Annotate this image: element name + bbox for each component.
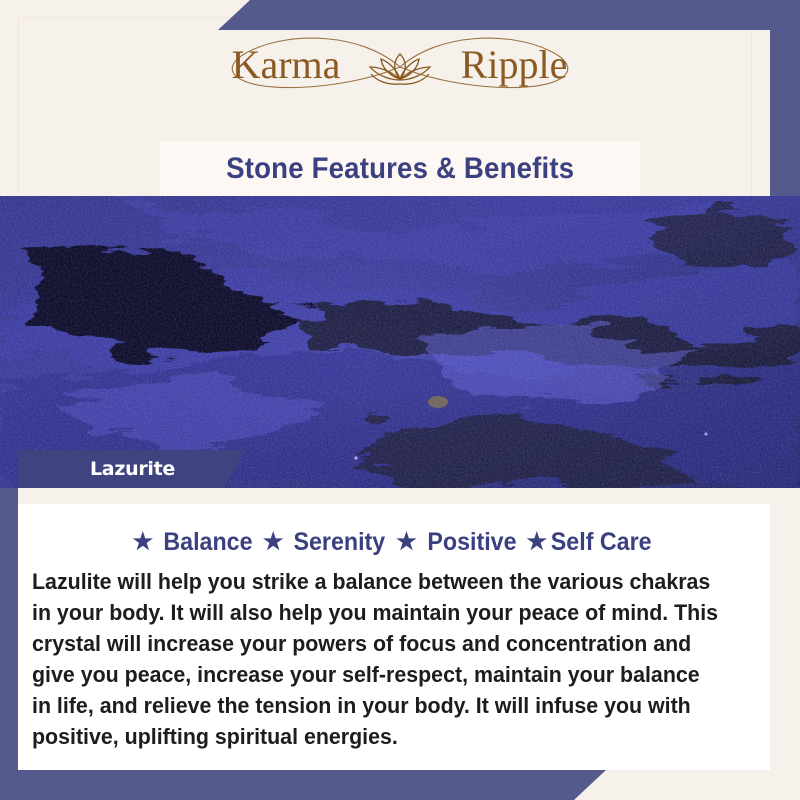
lotus-icon	[370, 54, 430, 84]
logo-word-ripple: Ripple	[461, 42, 568, 87]
benefits-list: ★ Balance ★ Serenity ★ Positive ★Self Ca…	[18, 528, 770, 557]
logo-svg: Karma Ripple	[190, 26, 610, 108]
stone-description: Lazulite will help you strike a balance …	[32, 566, 720, 752]
card-top-strip	[18, 488, 770, 504]
stone-name: Lazurite	[90, 458, 175, 480]
benefit-label-serenity: Serenity	[294, 528, 386, 557]
logo-word-karma: Karma	[232, 42, 341, 87]
star-icon: ★	[132, 528, 153, 555]
title-banner: Stone Features & Benefits	[160, 141, 640, 196]
stone-photo	[0, 196, 800, 488]
star-icon: ★	[527, 528, 548, 555]
benefit-label-self-care: Self Care	[551, 528, 652, 557]
star-icon: ★	[396, 528, 417, 555]
star-icon: ★	[263, 528, 284, 555]
benefit-label-balance: Balance	[163, 528, 252, 557]
frame-band-bottom	[0, 770, 606, 800]
benefit-label-positive: Positive	[427, 528, 516, 557]
stone-info-poster: Karma Ripple Stone Features & Benefits	[0, 0, 800, 800]
page-title: Stone Features & Benefits	[226, 152, 574, 186]
stone-photo-svg	[0, 196, 800, 488]
content-card: ★ Balance ★ Serenity ★ Positive ★Self Ca…	[18, 488, 770, 770]
stone-name-tab: Lazurite	[18, 450, 246, 488]
brand-logo: Karma Ripple	[0, 26, 800, 108]
